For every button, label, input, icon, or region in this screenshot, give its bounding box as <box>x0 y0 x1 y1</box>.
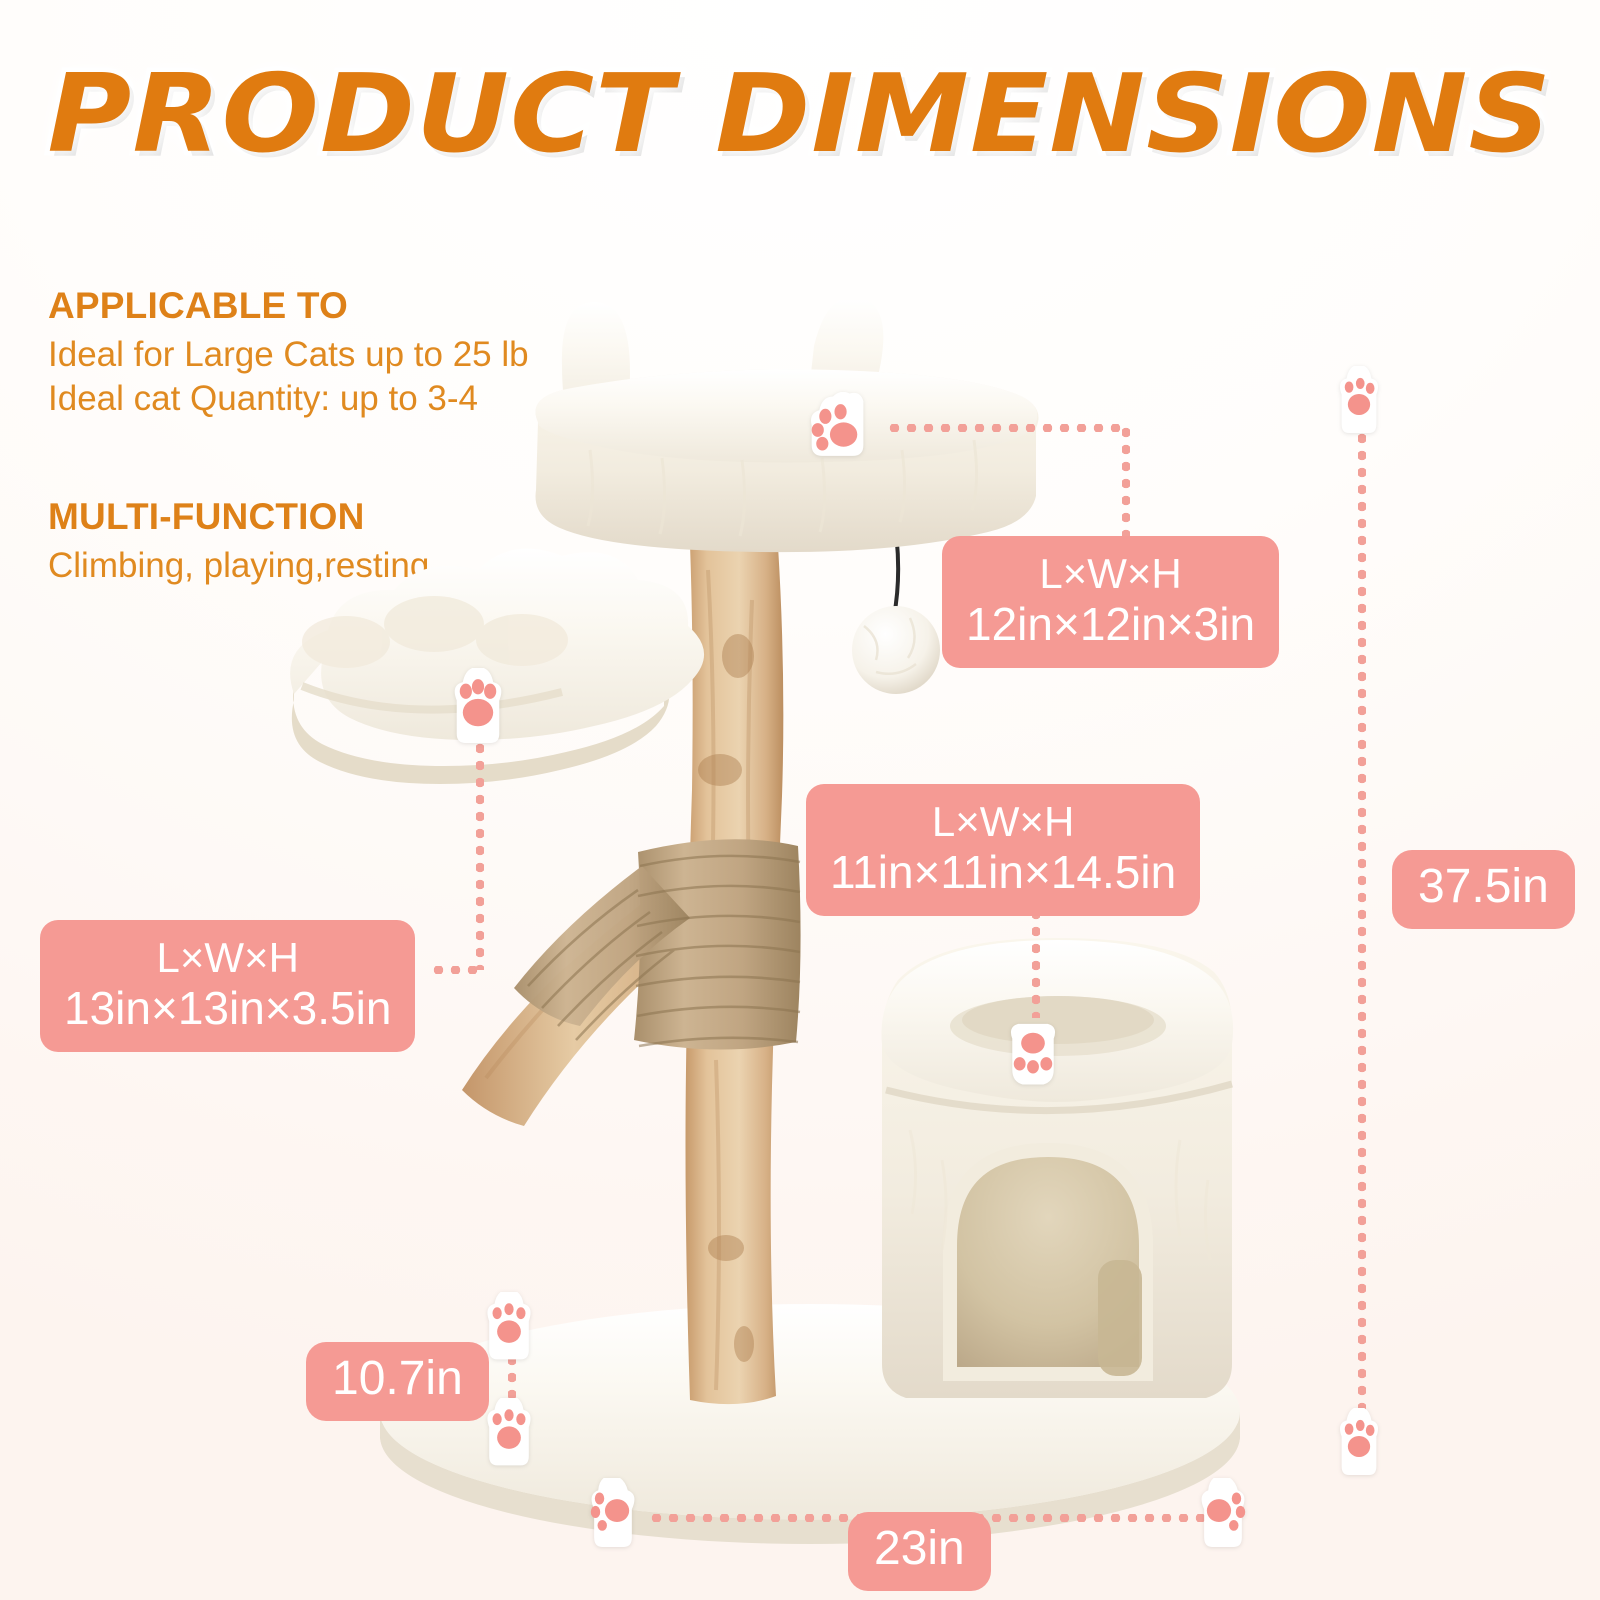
connector-flower-lead <box>430 966 482 974</box>
page-title-container: PRODUCT DIMENSIONS <box>0 52 1600 177</box>
dimension-label-overall-depth: 10.7in <box>306 1342 489 1421</box>
paw-icon-height-top <box>1328 366 1390 438</box>
dimension-label-overall-width: 23in <box>848 1512 991 1591</box>
connector-top-perch-riser <box>1122 424 1130 540</box>
paw-icon-condo <box>996 1012 1070 1092</box>
dimension-label-top-perch: L×W×H 12in×12in×3in <box>942 536 1279 668</box>
sisal-rope-wrap <box>514 839 801 1049</box>
paw-icon-width-left <box>578 1478 648 1554</box>
paw-icon-height-bottom <box>1328 1408 1390 1480</box>
connector-flower-riser <box>476 740 484 970</box>
connector-condo <box>1032 906 1040 1018</box>
paw-icon-top-perch <box>798 392 874 468</box>
dimension-label-condo: L×W×H 11in×11in×14.5in <box>806 784 1200 916</box>
dimension-label-flower-platform-line1: L×W×H <box>64 934 391 982</box>
paw-icon-flower-platform <box>440 668 516 748</box>
dimension-label-condo-line1: L×W×H <box>830 798 1176 846</box>
connector-top-perch <box>886 424 1126 432</box>
dimension-label-flower-platform-line2: 13in×13in×3.5in <box>64 982 391 1034</box>
condo-house <box>882 938 1234 1398</box>
flower-platform <box>290 549 704 784</box>
dimension-label-overall-height: 37.5in <box>1392 850 1575 929</box>
connector-overall-height <box>1358 430 1366 1430</box>
dimension-label-top-perch-line1: L×W×H <box>966 550 1255 598</box>
dimension-label-top-perch-line2: 12in×12in×3in <box>966 598 1255 650</box>
dimension-label-condo-line2: 11in×11in×14.5in <box>830 846 1176 898</box>
page-title: PRODUCT DIMENSIONS <box>48 52 1553 177</box>
paw-icon-width-right <box>1188 1478 1258 1554</box>
infographic-canvas: PRODUCT DIMENSIONS APPLICABLE TO Ideal f… <box>0 0 1600 1600</box>
dimension-label-flower-platform: L×W×H 13in×13in×3.5in <box>40 920 415 1052</box>
